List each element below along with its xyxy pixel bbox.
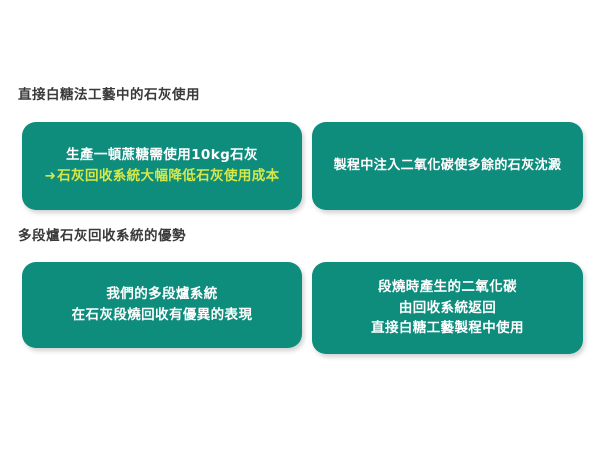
card-furnace-advantage: 我們的多段爐系統 在石灰段燒回收有優異的表現	[22, 262, 302, 348]
card-lime-usage-text: 生產一頓蔗糖需使用10kg石灰 ➜石灰回收系統大幅降低石灰使用成本	[22, 145, 302, 186]
arrow-right-icon: ➜	[44, 168, 57, 184]
card-furnace-advantage-line-2: 在石灰段燒回收有優異的表現	[28, 305, 296, 326]
slide-canvas: 直接白糖法工藝中的石灰使用 生產一頓蔗糖需使用10kg石灰 ➜石灰回收系統大幅降…	[0, 0, 600, 450]
card-lime-usage: 生產一頓蔗糖需使用10kg石灰 ➜石灰回收系統大幅降低石灰使用成本	[22, 122, 302, 210]
card-co2-injection-text: 製程中注入二氧化碳使多餘的石灰沈澱	[312, 156, 583, 176]
card-lime-usage-line-2: ➜石灰回收系統大幅降低石灰使用成本	[28, 166, 296, 187]
section-heading-lime-usage: 直接白糖法工藝中的石灰使用	[18, 89, 200, 103]
card-co2-return: 段燒時產生的二氧化碳 由回收系統返回 直接白糖工藝製程中使用	[312, 262, 583, 354]
card-furnace-advantage-line-1: 我們的多段爐系統	[28, 284, 296, 305]
card-co2-injection: 製程中注入二氧化碳使多餘的石灰沈澱	[312, 122, 583, 210]
card-co2-return-line-2: 由回收系統返回	[318, 298, 577, 319]
card-co2-injection-line-1: 製程中注入二氧化碳使多餘的石灰沈澱	[318, 156, 577, 176]
card-lime-usage-line-2-label: 石灰回收系統大幅降低石灰使用成本	[57, 168, 279, 184]
section-heading-furnace-advantage: 多段爐石灰回收系統的優勢	[18, 230, 186, 244]
card-furnace-advantage-text: 我們的多段爐系統 在石灰段燒回收有優異的表現	[22, 284, 302, 325]
card-co2-return-text: 段燒時產生的二氧化碳 由回收系統返回 直接白糖工藝製程中使用	[312, 277, 583, 339]
card-co2-return-line-3: 直接白糖工藝製程中使用	[318, 318, 577, 339]
card-co2-return-line-1: 段燒時產生的二氧化碳	[318, 277, 577, 298]
card-lime-usage-line-1: 生產一頓蔗糖需使用10kg石灰	[28, 145, 296, 166]
